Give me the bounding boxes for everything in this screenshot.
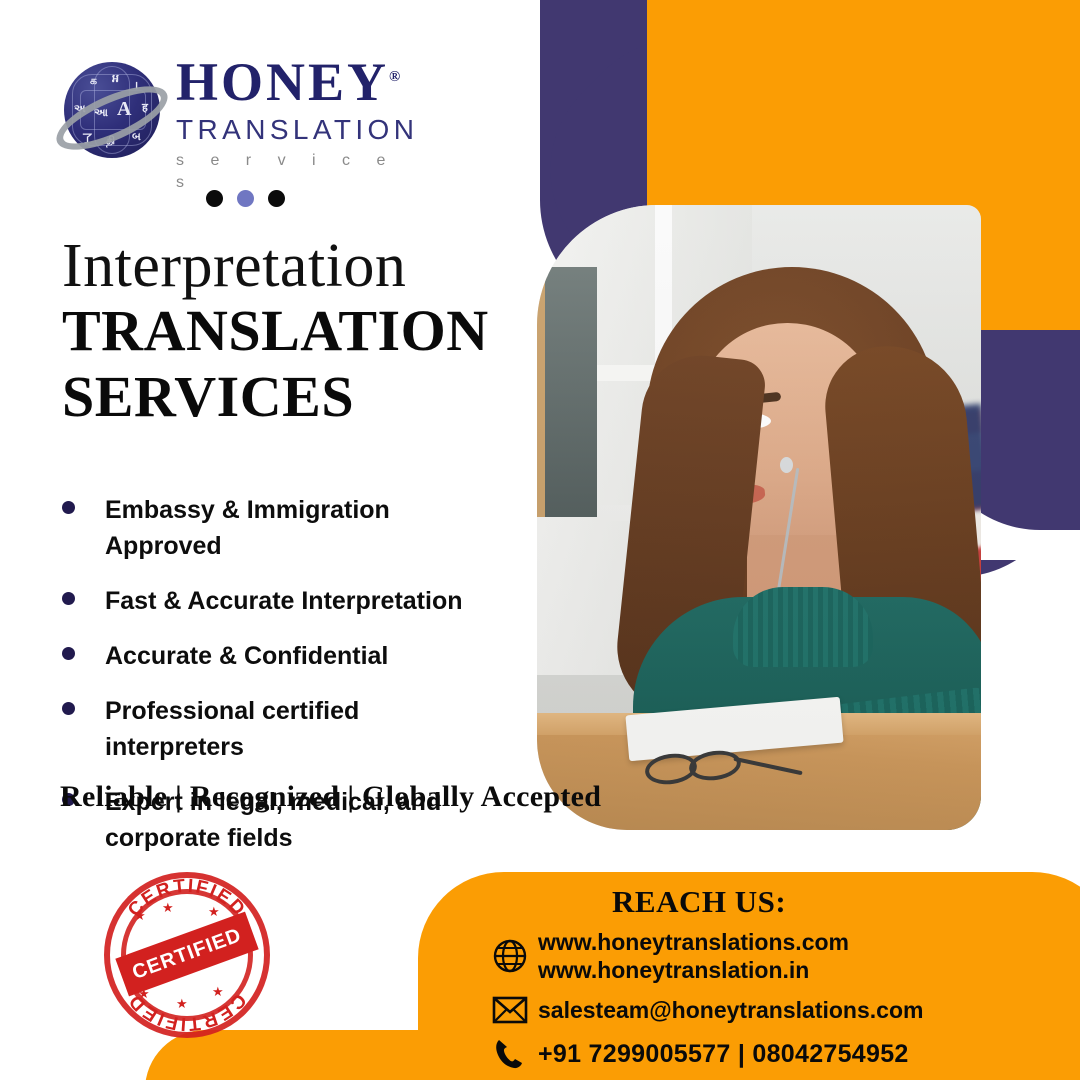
bullet-dot-icon <box>62 702 75 715</box>
headline-script-line: Interpretation <box>62 234 532 298</box>
hero-photo-image <box>537 205 981 830</box>
certified-stamp-badge: CERTIFIED CERTIFIED ★ ★ ★ ★ ★ ★ CERTIFIE… <box>104 872 270 1038</box>
contact-row-phone[interactable]: +91 7299005577 | 08042754952 <box>492 1036 1052 1072</box>
brand-name-secondary: TRANSLATION <box>176 113 418 147</box>
dot-black-right <box>268 190 285 207</box>
contact-row-email[interactable]: salesteam@honeytranslations.com <box>492 995 1052 1025</box>
globe-language-sphere-icon: க អ । અ આ A ह 了 தி બ <box>56 56 168 168</box>
bullet-dot-icon <box>62 501 75 514</box>
envelope-icon <box>492 995 538 1025</box>
dot-black-left <box>206 190 223 207</box>
list-item: Embassy & Immigration Approved <box>56 492 556 564</box>
phone-icon <box>492 1036 538 1072</box>
photo-overlay <box>537 205 981 830</box>
dot-purple-middle <box>237 190 254 207</box>
brand-name-primary-text: HONEY <box>176 52 389 112</box>
headline-bold-line-2: SERVICES <box>62 364 532 430</box>
brand-name-primary: HONEY® <box>176 48 418 111</box>
list-item-label: Professional certified interpreters <box>105 693 505 765</box>
list-item: Accurate & Confidential <box>56 638 556 674</box>
brand-name-tertiary: s e r v i c e s <box>176 150 418 194</box>
stamp-star-icon: ★ <box>212 984 224 1000</box>
decorative-dots <box>206 190 285 207</box>
contact-row-website[interactable]: www.honeytranslations.com www.honeytrans… <box>492 928 1052 984</box>
poster-canvas: க អ । અ આ A ह 了 தி બ HONEY® TRANSLATION … <box>0 0 1080 1080</box>
bullet-dot-icon <box>62 647 75 660</box>
contact-phone-label[interactable]: +91 7299005577 | 08042754952 <box>538 1040 909 1068</box>
contact-website-line-2[interactable]: www.honeytranslation.in <box>538 956 849 984</box>
stamp-star-icon: ★ <box>134 908 146 924</box>
list-item-label: Fast & Accurate Interpretation <box>105 583 462 619</box>
tagline: Reliable | Recognized | Globally Accepte… <box>60 780 601 814</box>
brand-wordmark: HONEY® TRANSLATION s e r v i c e s <box>176 48 418 194</box>
list-item: Fast & Accurate Interpretation <box>56 583 556 619</box>
bullet-dot-icon <box>62 592 75 605</box>
contact-website-line-1[interactable]: www.honeytranslations.com <box>538 928 849 956</box>
feature-list: Embassy & Immigration Approved Fast & Ac… <box>56 492 556 875</box>
list-item-label: Accurate & Confidential <box>105 638 388 674</box>
stamp-star-icon: ★ <box>162 900 174 916</box>
list-item-label: Embassy & Immigration Approved <box>105 492 505 564</box>
contact-email-label[interactable]: salesteam@honeytranslations.com <box>538 996 923 1024</box>
stamp-star-icon: ★ <box>176 996 188 1012</box>
headline-block: Interpretation TRANSLATION SERVICES <box>62 234 532 430</box>
contact-heading: REACH US: <box>612 884 786 920</box>
brand-logo[interactable]: க អ । અ આ A ह 了 தி બ HONEY® TRANSLATION … <box>56 48 416 176</box>
stamp-star-icon: ★ <box>208 904 220 920</box>
hero-photo <box>537 205 981 830</box>
globe-icon <box>492 938 538 974</box>
contact-list: www.honeytranslations.com www.honeytrans… <box>492 928 1052 1080</box>
list-item: Professional certified interpreters <box>56 693 556 765</box>
registered-mark-icon: ® <box>389 69 403 85</box>
headline-bold-line-1: TRANSLATION <box>62 298 532 364</box>
contact-website-lines: www.honeytranslations.com www.honeytrans… <box>538 928 849 984</box>
